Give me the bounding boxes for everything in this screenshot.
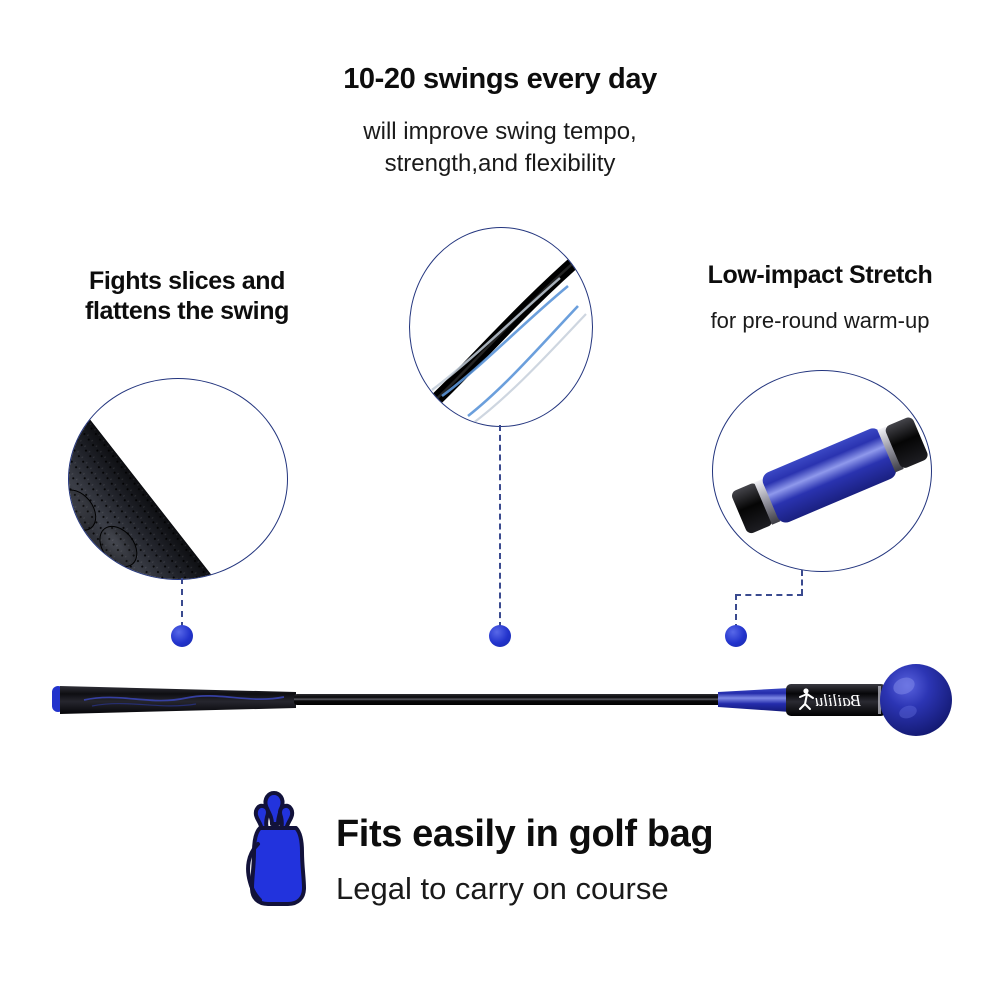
top-callout-subtitle: will improve swing tempo, strength,and f… xyxy=(230,116,770,179)
product-swing-trainer: Baililu xyxy=(0,648,1000,778)
grip-band-shape xyxy=(68,378,227,580)
grip-texture-dots xyxy=(68,378,227,580)
grip-closeup-art xyxy=(69,379,287,579)
callout-circle-weight xyxy=(712,370,932,572)
right-callout-title: Low-impact Stretch xyxy=(645,261,995,291)
weight-blue-cylinder xyxy=(760,426,899,526)
top-callout-subtitle-line2: strength,and flexibility xyxy=(230,148,770,180)
shaft-flex-svg xyxy=(410,228,592,426)
club-ball-head xyxy=(880,664,952,736)
bag-body xyxy=(252,828,304,904)
weight-closeup-art xyxy=(713,371,931,571)
left-callout-title-line2: flattens the swing xyxy=(22,297,352,327)
bottom-callout-subtitle: Legal to carry on course xyxy=(336,869,806,910)
callout-circle-grip xyxy=(68,378,288,580)
golf-bag-icon xyxy=(232,782,328,914)
flex-arc-grey xyxy=(472,314,586,424)
club-svg: Baililu xyxy=(0,648,1000,778)
shaft-closeup-art xyxy=(410,228,592,426)
connector-dot-grip xyxy=(171,625,193,647)
top-callout-title: 10-20 swings every day xyxy=(230,62,770,96)
connector-line-vertical xyxy=(181,578,183,628)
top-callout-subtitle-line1: will improve swing tempo, xyxy=(363,118,636,145)
club-weight-section xyxy=(718,688,790,712)
weight-svg xyxy=(713,371,931,571)
connector-line-vertical xyxy=(499,425,501,628)
golf-bag-svg xyxy=(232,782,328,914)
bottom-callout-title: Fits easily in golf bag xyxy=(336,812,806,857)
left-callout-title: Fights slices and flattens the swing xyxy=(22,267,352,326)
connector-dot-shaft xyxy=(489,625,511,647)
left-callout-title-line1: Fights slices and xyxy=(89,267,285,295)
connector-line-horizontal xyxy=(735,594,803,596)
infographic-canvas: 10-20 swings every day will improve swin… xyxy=(0,0,1000,1000)
flex-arc-blue xyxy=(442,286,568,396)
brand-logo-text: Baililu xyxy=(815,691,861,710)
connector-line-vertical-upper xyxy=(801,570,803,595)
club-shaft xyxy=(294,694,722,705)
callout-circle-shaft xyxy=(409,227,593,427)
right-callout-subtitle: for pre-round warm-up xyxy=(645,306,995,335)
connector-dot-weight xyxy=(725,625,747,647)
